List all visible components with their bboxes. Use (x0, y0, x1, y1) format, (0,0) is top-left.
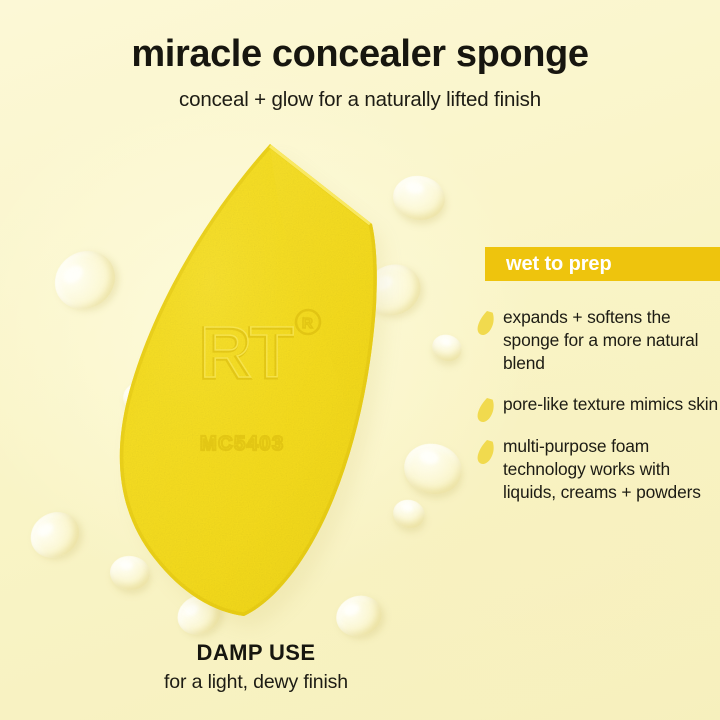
benefit-text: expands + softens the sponge for a more … (503, 306, 720, 374)
benefits-list: expands + softens the sponge for a more … (476, 306, 720, 504)
usage-title: DAMP USE (0, 640, 512, 666)
sponge-bullet-icon (476, 439, 495, 465)
benefit-item: multi-purpose foam technology works with… (476, 435, 720, 503)
page-title: miracle concealer sponge (0, 34, 720, 75)
model-code-emboss: MC5403 (200, 433, 285, 455)
wet-to-prep-banner: wet to prep (485, 247, 720, 281)
svg-text:RT: RT (200, 313, 294, 393)
benefit-text: multi-purpose foam technology works with… (503, 435, 720, 503)
usage-subtitle: for a light, dewy finish (0, 671, 512, 694)
banner-label: wet to prep (485, 253, 612, 276)
benefit-item: expands + softens the sponge for a more … (476, 306, 720, 374)
sponge-bullet-icon (476, 310, 495, 336)
benefit-item: pore-like texture mimics skin (476, 393, 720, 416)
page-subtitle: conceal + glow for a naturally lifted fi… (0, 88, 720, 112)
svg-text:MC5403: MC5403 (200, 433, 285, 455)
svg-text:R: R (302, 315, 313, 332)
benefit-text: pore-like texture mimics skin (503, 393, 720, 416)
brand-emboss-rt: RT RT (199, 313, 294, 394)
sponge-bullet-icon (476, 397, 495, 423)
product-sponge-image: RT RT R MC5403 (96, 138, 396, 622)
infographic-canvas: miracle concealer sponge conceal + glow … (0, 0, 720, 720)
